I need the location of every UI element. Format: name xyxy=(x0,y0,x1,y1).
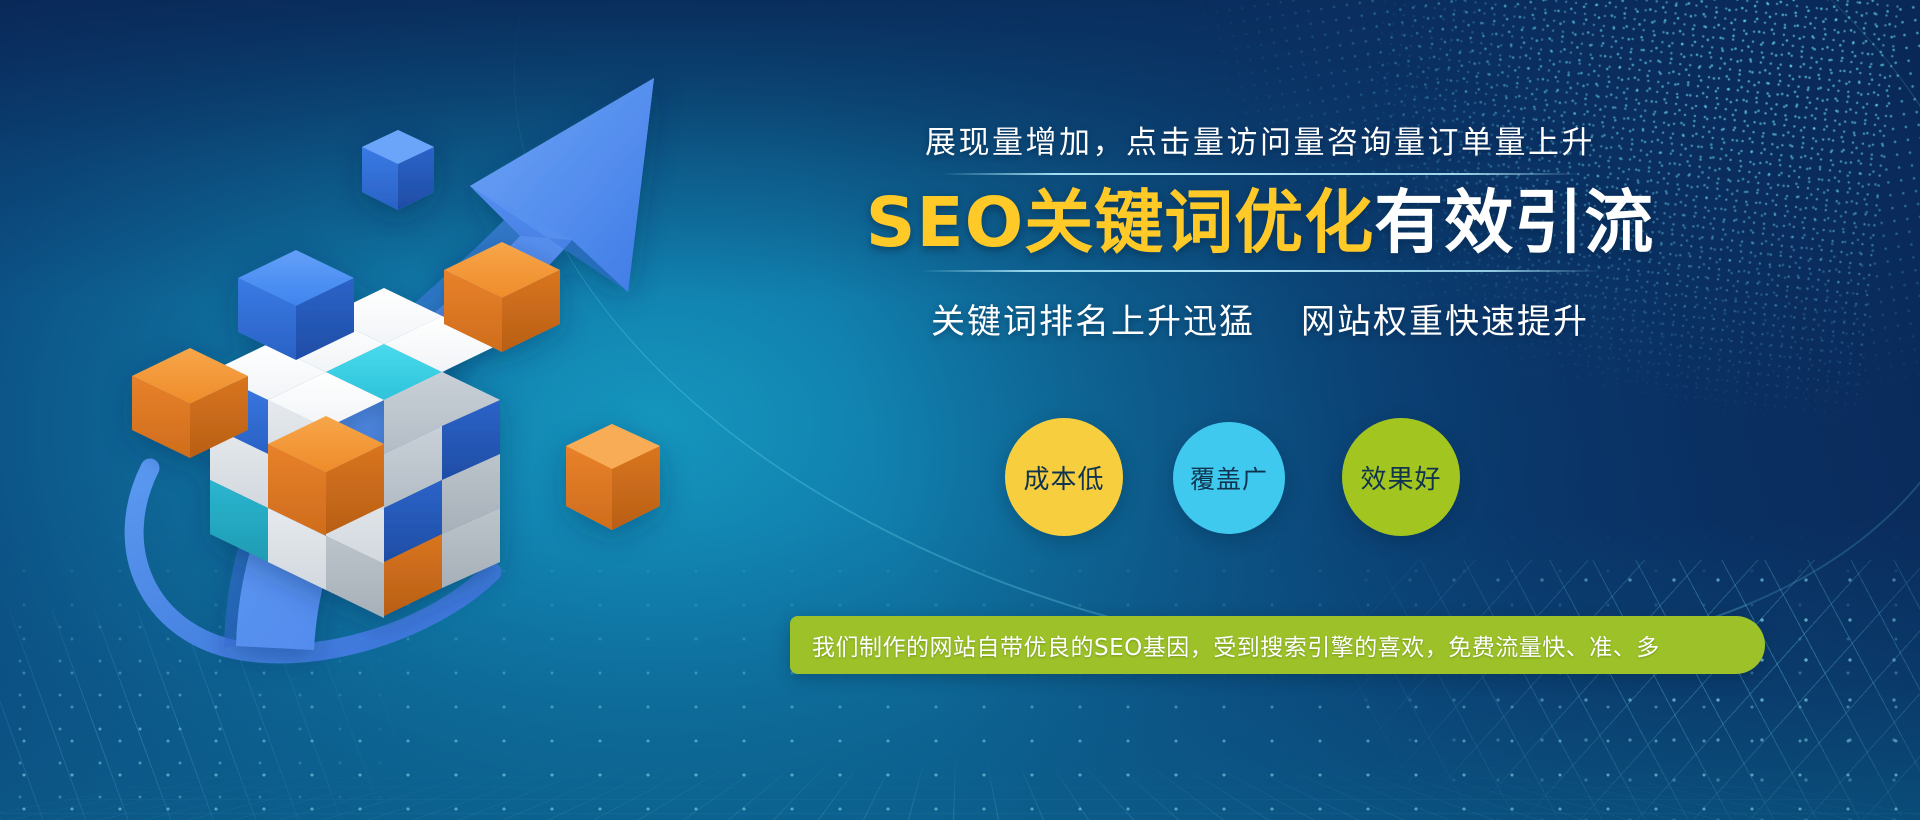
banner-kicker: 展现量增加，点击量访问量咨询量订单量上升 xyxy=(700,128,1820,159)
footer-highlight-bar: 我们制作的网站自带优良的SEO基因，受到搜索引擎的喜欢，免费流量快、准、多 xyxy=(790,616,1765,674)
subline-right: 网站权重快速提升 xyxy=(1301,302,1589,342)
banner-copy: 展现量增加，点击量访问量咨询量订单量上升 SEO关键词优化有效引流 关键词排名上… xyxy=(700,128,1820,343)
footer-bar-text: 我们制作的网站自带优良的SEO基因，受到搜索引擎的喜欢，免费流量快、准、多 xyxy=(790,628,1660,662)
divider-top xyxy=(940,173,1580,175)
headline-highlight: SEO关键词优化 xyxy=(866,183,1375,263)
badge-cost-low[interactable]: 成本低 xyxy=(1005,418,1123,536)
subline-left: 关键词排名上升迅猛 xyxy=(931,302,1255,342)
badge-label: 效果好 xyxy=(1360,459,1441,496)
badge-label: 成本低 xyxy=(1023,459,1104,496)
headline-rest: 有效引流 xyxy=(1374,183,1654,263)
badge-label: 覆盖广 xyxy=(1190,460,1268,496)
rubiks-cube-icon xyxy=(132,242,560,618)
badge-effect-good[interactable]: 效果好 xyxy=(1342,418,1460,536)
divider-bottom xyxy=(920,270,1600,272)
badge-coverage-wide[interactable]: 覆盖广 xyxy=(1173,422,1285,534)
banner-subline: 关键词排名上升迅猛网站权重快速提升 xyxy=(700,294,1820,343)
network-mesh-right-icon xyxy=(1300,560,1920,820)
hero-artwork xyxy=(0,0,760,820)
benefit-badges: 成本低 覆盖广 效果好 xyxy=(1005,418,1525,598)
floating-orange-cube-icon xyxy=(566,424,660,530)
banner-headline: SEO关键词优化有效引流 xyxy=(700,183,1820,264)
seo-banner: 展现量增加，点击量访问量咨询量订单量上升 SEO关键词优化有效引流 关键词排名上… xyxy=(0,0,1920,820)
floating-blue-cube-icon xyxy=(362,130,434,210)
